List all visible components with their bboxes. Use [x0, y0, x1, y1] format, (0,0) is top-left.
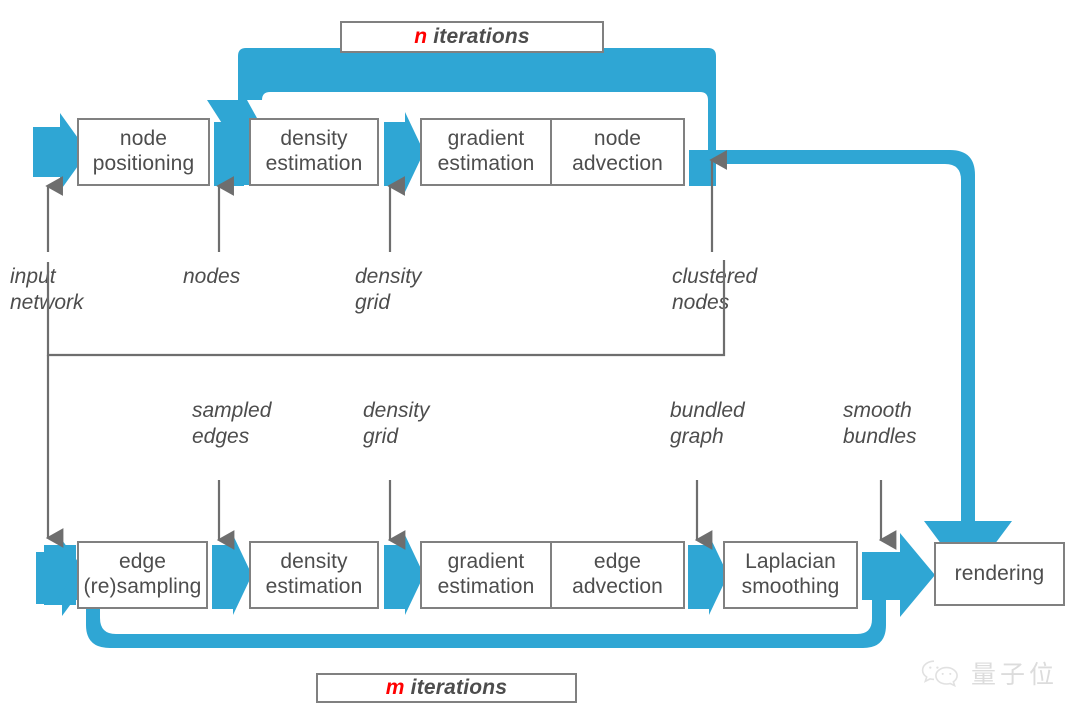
annotation-lines-layer	[0, 0, 1080, 724]
m-iterations-box: m iterations	[316, 673, 577, 703]
n-iterations-box: n iterations	[340, 21, 604, 53]
m-iterations-text: iterations	[411, 676, 508, 700]
diagram-canvas: node positioning density estimation grad…	[0, 0, 1080, 724]
n-iterations-text: iterations	[433, 25, 530, 49]
m-iterations-variable: m	[386, 676, 405, 700]
watermark: 量子位	[920, 655, 1058, 691]
watermark-text: 量子位	[971, 655, 1058, 691]
wechat-icon	[920, 657, 964, 689]
elbow-input-to-bottom	[48, 260, 724, 355]
n-iterations-variable: n	[414, 25, 427, 49]
